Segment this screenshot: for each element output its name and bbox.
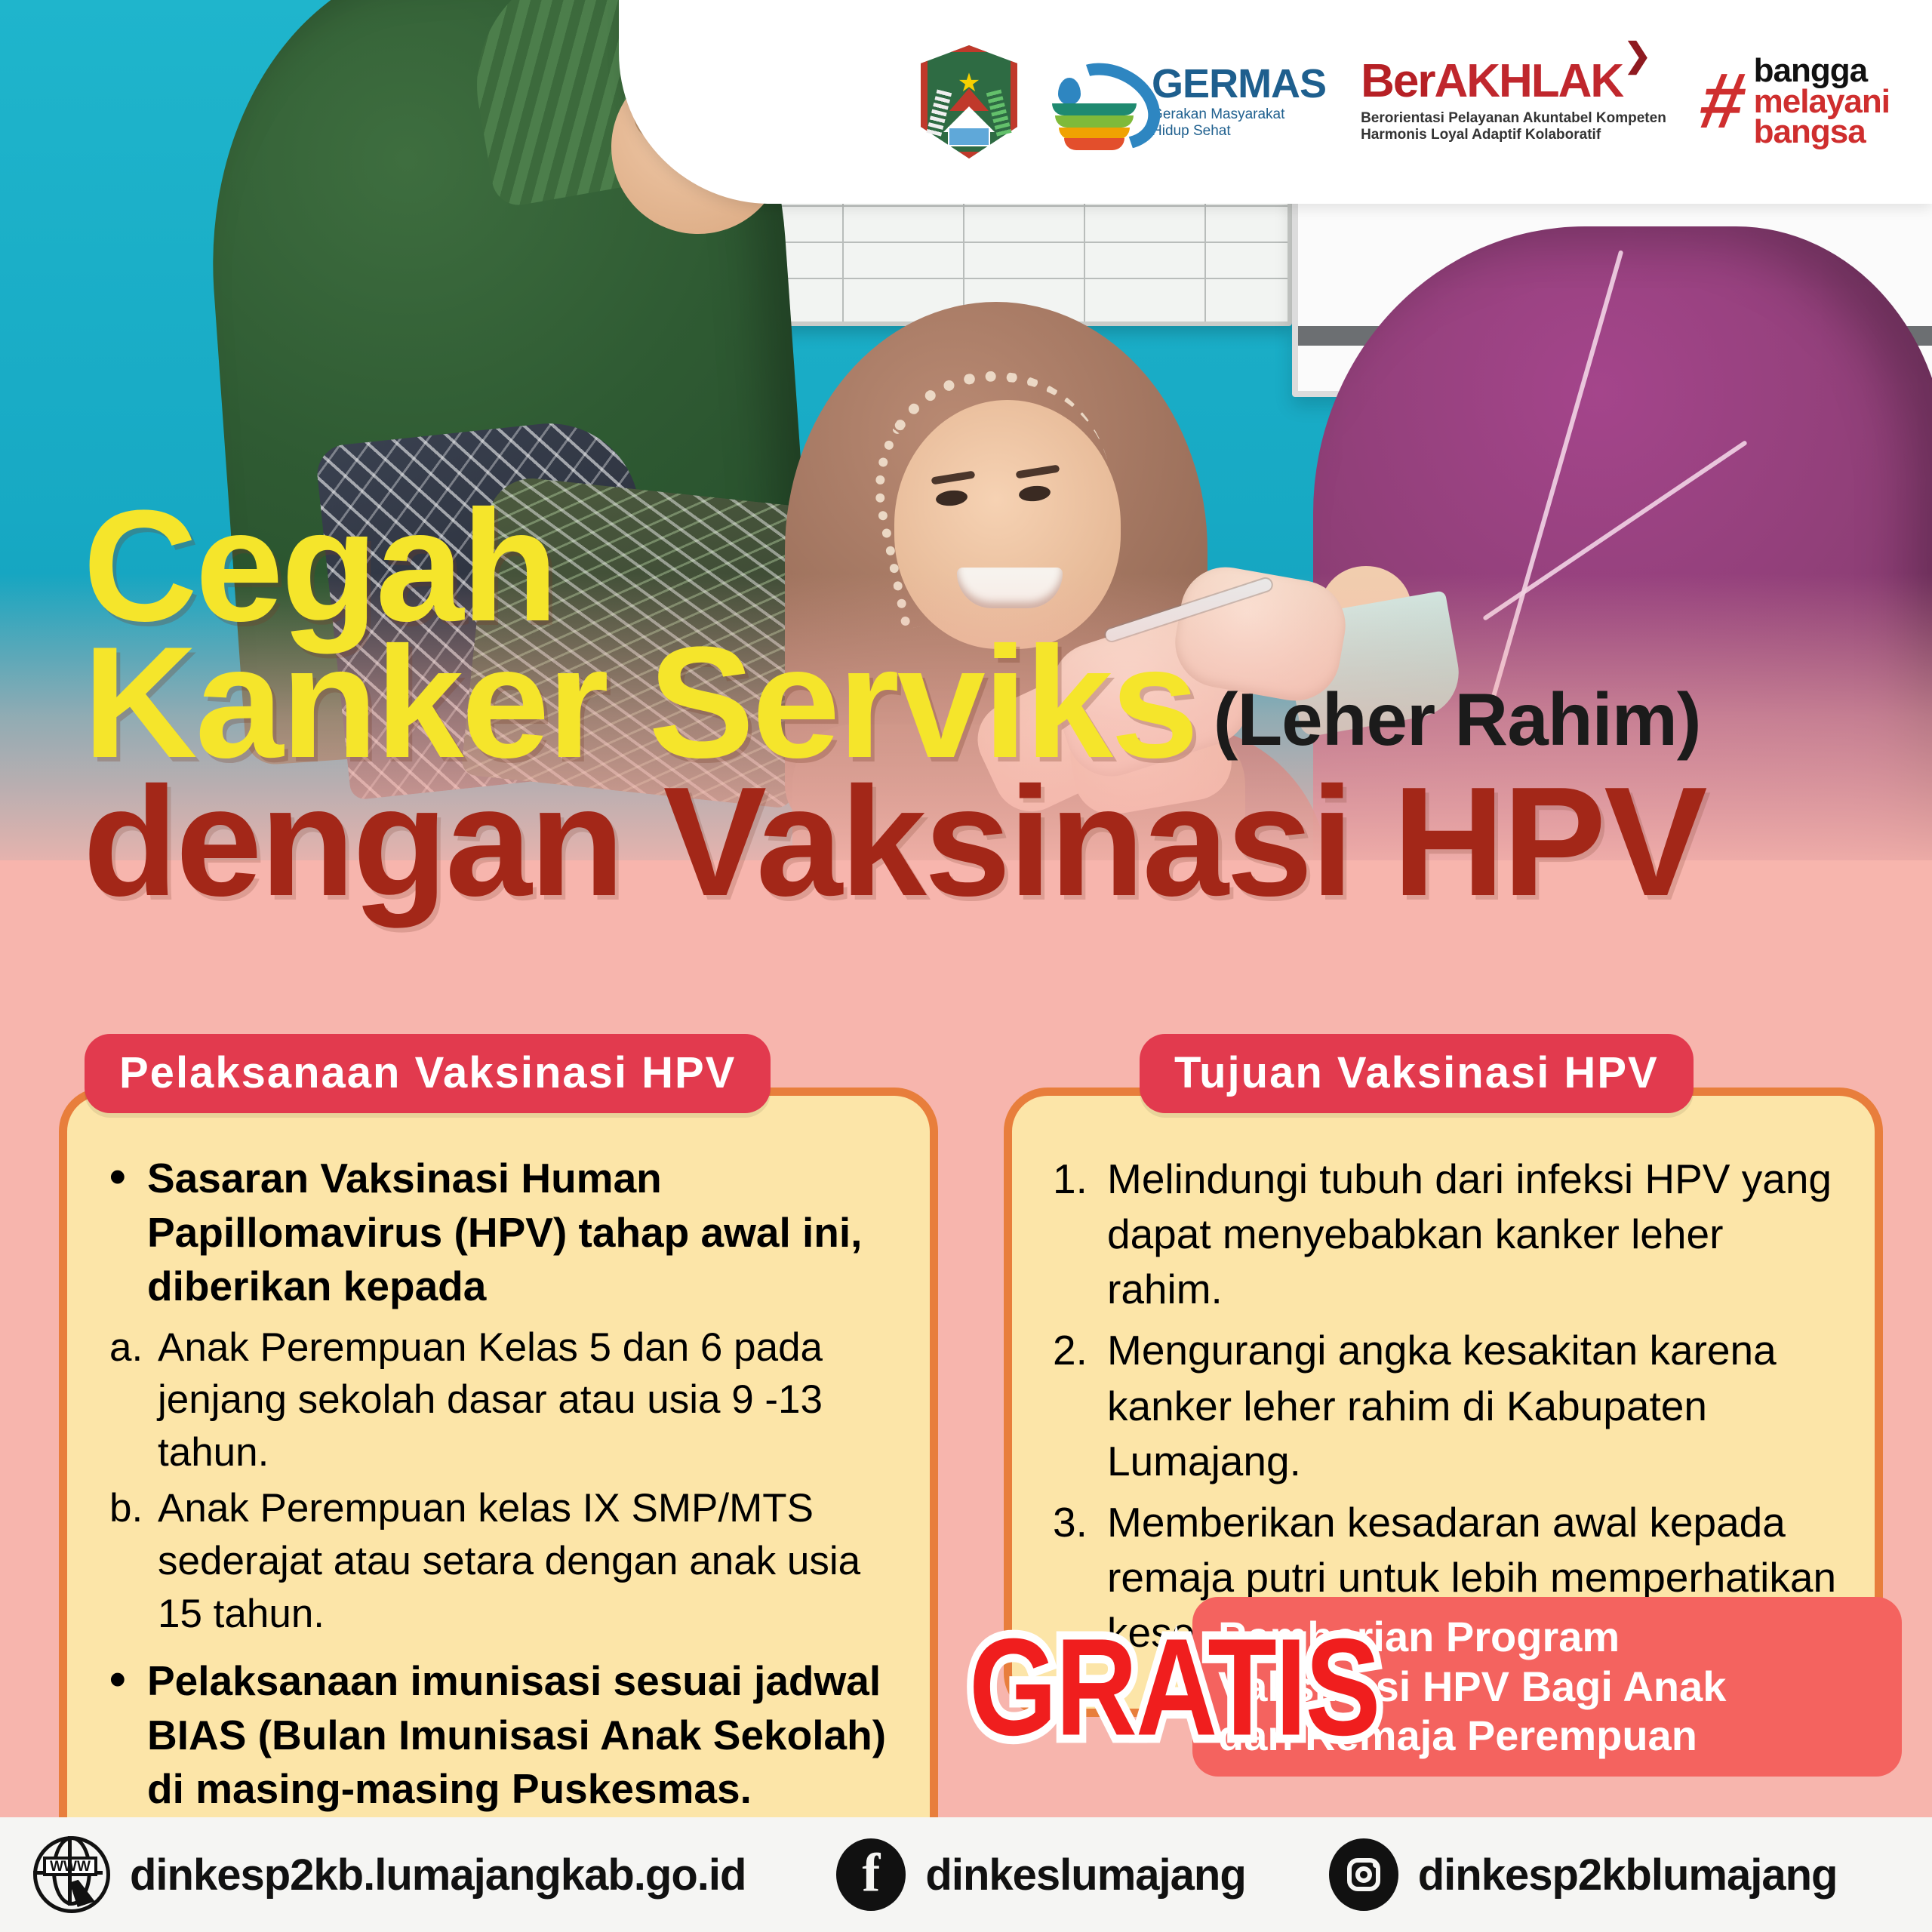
facebook-contact[interactable]: dinkeslumajang [836,1838,1245,1911]
gratis-word: GRATIS [969,1618,1380,1756]
hash-icon: # [1695,70,1750,133]
facebook-icon [836,1838,906,1911]
berakhlak-tagline-2: Harmonis Loyal Adaptif Kolaboratif [1361,127,1666,144]
website-contact[interactable]: WWW dinkesp2kb.lumajangkab.go.id [33,1836,746,1913]
left-sub-list: Anak Perempuan Kelas 5 dan 6 pada jenjan… [103,1321,894,1641]
title-line-2-row: Kanker Serviks (Leher Rahim) [83,635,1894,771]
left-sub-item-b: Anak Perempuan kelas IX SMP/MTS sederaja… [103,1482,894,1641]
instagram-contact[interactable]: dinkesp2kblumajang [1329,1838,1838,1911]
instagram-label: dinkesp2kblumajang [1418,1850,1838,1900]
globe-icon: WWW [33,1836,110,1913]
germas-tagline-1: Gerakan Masyarakat [1152,106,1326,122]
gratis-banner: Pemberian Program Vaksinasi HPV Bagi Ana… [974,1592,1902,1781]
footer-bar: WWW dinkesp2kb.lumajangkab.go.id dinkesl… [0,1817,1932,1932]
left-bullet-list: Sasaran Vaksinasi Human Papillomavirus (… [103,1152,894,1314]
left-bullet-list-2: Pelaksanaan imunisasi sesuai jadwal BIAS… [103,1654,894,1817]
germas-mark-icon [1052,60,1141,144]
right-item-2: Mengurangi angka kesakitan karena kanker… [1048,1323,1838,1488]
bangga-line-2: melayani [1754,87,1890,117]
left-bullet-1: Sasaran Vaksinasi Human Papillomavirus (… [103,1152,894,1314]
title-line-3: dengan Vaksinasi HPV [83,775,1894,909]
website-label: dinkesp2kb.lumajangkab.go.id [130,1850,746,1900]
lumajang-crest-icon: ★ KABUPATEN LUMAJANG [921,45,1017,158]
bangga-line-3: bangsa [1754,117,1890,147]
poster-root: BSEN [0,0,1932,1932]
www-label: WWW [43,1857,97,1876]
bangga-melayani-bangsa-logo: # bangga melayani bangsa [1701,56,1890,147]
facebook-label: dinkeslumajang [925,1850,1245,1900]
poster-title: Cegah Kanker Serviks (Leher Rahim) denga… [83,498,1894,909]
left-sub-item-a: Anak Perempuan Kelas 5 dan 6 pada jenjan… [103,1321,894,1480]
title-line-2: Kanker Serviks [83,635,1197,771]
chevron-right-icon: ❯ [1623,40,1650,72]
left-panel-caption: Pelaksanaan Vaksinasi HPV [85,1034,771,1113]
germas-name: GERMAS [1152,65,1326,103]
germas-logo: GERMAS Gerakan Masyarakat Hidup Sehat [1052,60,1326,144]
berakhlak-part1: Ber [1361,55,1434,107]
right-item-1: Melindungi tubuh dari infeksi HPV yang d… [1048,1152,1838,1317]
berakhlak-part2: AKHLAK [1434,55,1623,107]
berakhlak-tagline-1: Berorientasi Pelayanan Akuntabel Kompete… [1361,110,1666,128]
right-numbered-list: Melindungi tubuh dari infeksi HPV yang d… [1048,1152,1838,1660]
logo-bar: ★ KABUPATEN LUMAJANG GERMAS Gerakan Masy… [619,0,1932,204]
left-column: Pelaksanaan Vaksinasi HPV Sasaran Vaksin… [59,1034,938,1875]
berakhlak-logo: BerAKHLAK ❯ Berorientasi Pelayanan Akunt… [1361,60,1666,144]
left-panel-body: Sasaran Vaksinasi Human Papillomavirus (… [59,1088,938,1875]
right-panel-caption: Tujuan Vaksinasi HPV [1140,1034,1694,1113]
left-bullet-2: Pelaksanaan imunisasi sesuai jadwal BIAS… [103,1654,894,1817]
bangga-line-1: bangga [1754,56,1890,86]
germas-tagline-2: Hidup Sehat [1152,123,1326,139]
instagram-icon [1329,1838,1398,1911]
